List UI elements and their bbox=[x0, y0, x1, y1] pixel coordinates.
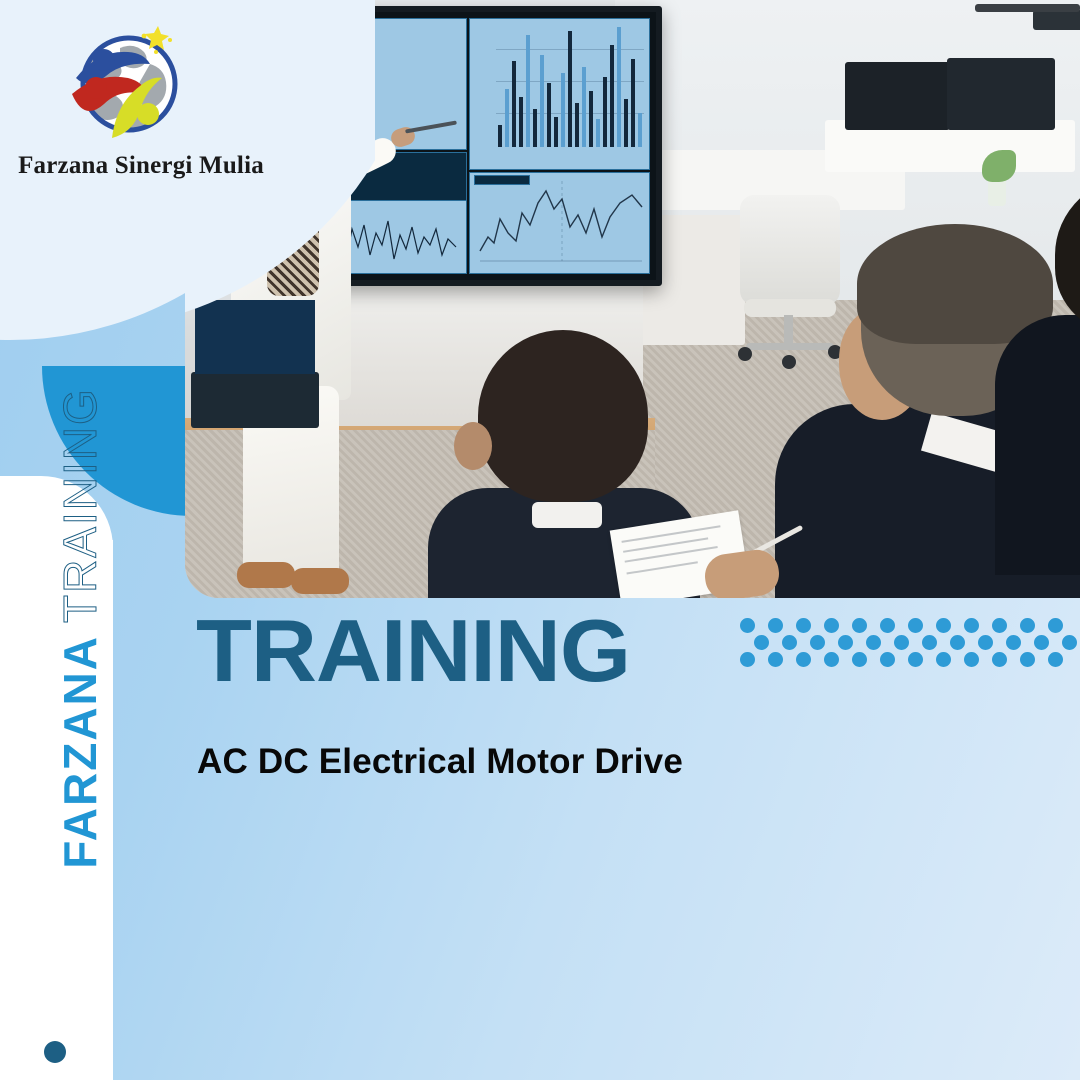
grid-dot bbox=[810, 635, 825, 650]
grid-dot bbox=[1006, 635, 1021, 650]
chart-bar bbox=[582, 67, 586, 147]
grid-dot bbox=[908, 618, 923, 633]
grid-dot bbox=[1048, 652, 1063, 667]
grid-dot bbox=[824, 618, 839, 633]
grid-dot bbox=[768, 652, 783, 667]
grid-dot bbox=[950, 635, 965, 650]
hero-photo bbox=[185, 0, 1080, 598]
page-title: TRAINING bbox=[196, 607, 630, 695]
chart-bar bbox=[540, 55, 544, 147]
audience-person-right bbox=[1015, 175, 1080, 598]
vertical-label-farzana: FARZANA bbox=[53, 635, 107, 869]
chart-bar bbox=[596, 119, 600, 147]
chart-bar bbox=[638, 113, 642, 147]
audience-head bbox=[1055, 175, 1080, 335]
grid-dot bbox=[978, 635, 993, 650]
vertical-brand-label: FARZANA TRAINING bbox=[50, 248, 110, 1008]
chart-bar bbox=[519, 97, 523, 147]
grid-dot bbox=[936, 652, 951, 667]
monitor-1 bbox=[845, 62, 950, 130]
audience-collar bbox=[532, 502, 602, 528]
chart-bar bbox=[631, 59, 635, 147]
screen-panel-line-chart bbox=[469, 172, 650, 274]
chart-bar bbox=[568, 31, 572, 147]
chart-bar bbox=[617, 27, 621, 147]
grid-dot bbox=[824, 652, 839, 667]
paper-line bbox=[626, 561, 697, 574]
grid-dot bbox=[754, 635, 769, 650]
line-chart-legend bbox=[474, 175, 530, 185]
grid-dot bbox=[1034, 635, 1049, 650]
laptop bbox=[191, 372, 319, 428]
chair-wheel bbox=[738, 347, 752, 361]
grid-dot bbox=[908, 652, 923, 667]
grid-dot bbox=[796, 652, 811, 667]
presenter-shoe bbox=[291, 568, 349, 594]
chart-bar bbox=[603, 77, 607, 147]
chart-bar bbox=[533, 109, 537, 147]
chart-bar bbox=[561, 73, 565, 147]
chair-wheel bbox=[782, 355, 796, 369]
chart-bar bbox=[505, 89, 509, 147]
grid-dot bbox=[964, 652, 979, 667]
chart-bar bbox=[547, 83, 551, 147]
chart-bar bbox=[624, 99, 628, 147]
shelf-top-right bbox=[975, 4, 1080, 12]
blue-dot-grid bbox=[740, 618, 1070, 670]
chart-bar bbox=[498, 125, 502, 147]
globe-people-star-icon bbox=[66, 20, 192, 146]
grid-dot bbox=[768, 618, 783, 633]
grid-dot bbox=[740, 652, 755, 667]
grid-dot bbox=[1048, 618, 1063, 633]
chart-bar bbox=[610, 45, 614, 147]
grid-dot bbox=[936, 618, 951, 633]
screen-panel-bar-chart bbox=[469, 18, 650, 170]
grid-dot bbox=[894, 635, 909, 650]
grid-dot bbox=[852, 618, 867, 633]
grid-dot bbox=[880, 652, 895, 667]
grid-dot bbox=[838, 635, 853, 650]
chart-bar bbox=[589, 91, 593, 147]
grid-dot bbox=[1062, 635, 1077, 650]
chart-bar bbox=[575, 103, 579, 147]
grid-dot bbox=[1020, 652, 1035, 667]
poster-canvas: Farzana Sinergi Mulia FARZANA TRAINING T… bbox=[0, 0, 1080, 1080]
brand-logo-block: Farzana Sinergi Mulia bbox=[10, 12, 270, 172]
paper-line bbox=[621, 525, 720, 543]
grid-dot bbox=[964, 618, 979, 633]
vertical-label-training: TRAINING bbox=[53, 387, 107, 623]
grid-dot bbox=[992, 652, 1007, 667]
grid-dot bbox=[922, 635, 937, 650]
grid-dot bbox=[992, 618, 1007, 633]
grid-dot bbox=[740, 618, 755, 633]
plant-decor bbox=[980, 150, 1018, 210]
monitor-3 bbox=[1033, 10, 1080, 30]
line-chart-svg bbox=[470, 173, 649, 273]
chart-bar bbox=[512, 61, 516, 147]
grid-dot bbox=[782, 635, 797, 650]
grid-dot bbox=[1020, 618, 1035, 633]
grid-dot bbox=[852, 652, 867, 667]
audience-suit bbox=[995, 315, 1080, 575]
grid-dot bbox=[880, 618, 895, 633]
chart-bar bbox=[554, 117, 558, 147]
grid-dot bbox=[796, 618, 811, 633]
page-subtitle: AC DC Electrical Motor Drive bbox=[197, 742, 683, 782]
monitor-2 bbox=[947, 58, 1055, 130]
bullet-dot-icon bbox=[44, 1041, 66, 1063]
company-name: Farzana Sinergi Mulia bbox=[16, 152, 266, 180]
audience-head bbox=[478, 330, 648, 502]
presenter-shoe bbox=[237, 562, 295, 588]
laptop-screen bbox=[195, 300, 315, 374]
chart-bar bbox=[526, 35, 530, 147]
grid-dot bbox=[866, 635, 881, 650]
audience-ear bbox=[454, 422, 492, 470]
